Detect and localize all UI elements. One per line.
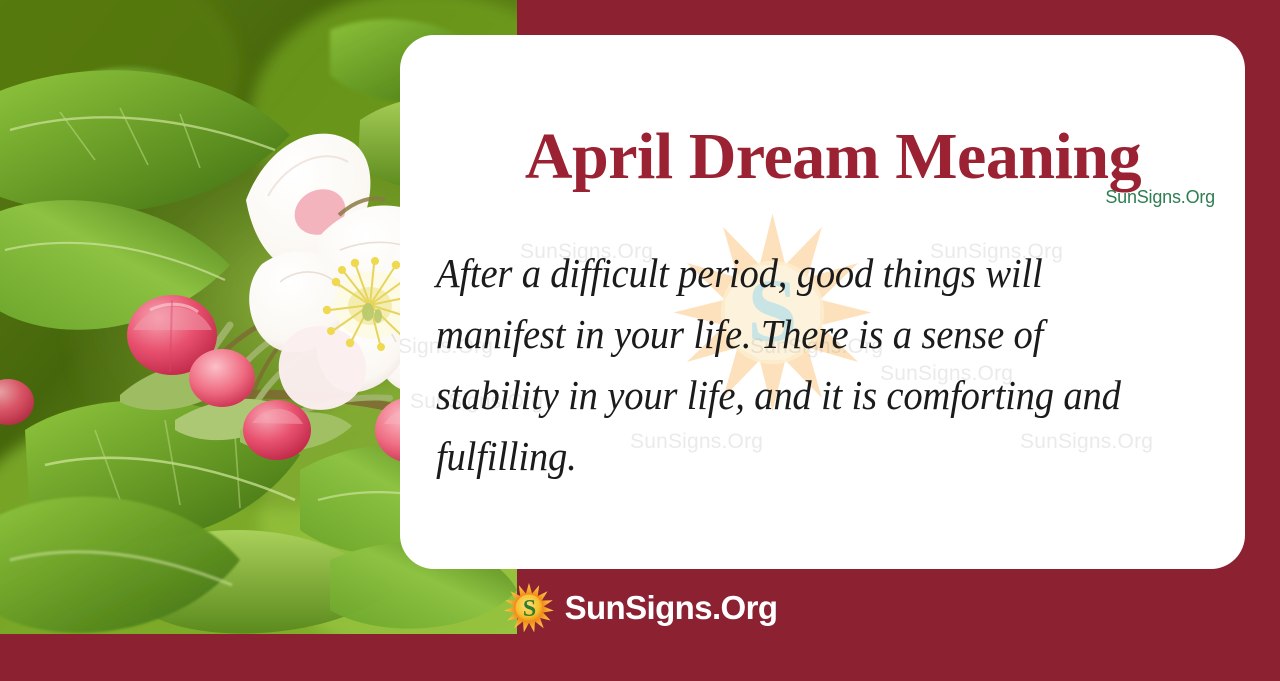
svg-text:S: S: [522, 596, 535, 622]
footer-brand-text: SunSigns.Org: [565, 589, 778, 627]
title-brand-overlay: SunSigns.Org: [1105, 187, 1215, 208]
dream-meaning-body: After a difficult period, good things wi…: [436, 243, 1171, 487]
content-card: S SunSigns.Org SunSigns.Org SunSigns.Org…: [400, 35, 1245, 569]
poster-canvas: S SunSigns.Org SunSigns.Org SunSigns.Org…: [0, 0, 1280, 681]
page-title: April Dream Meaning: [448, 123, 1218, 190]
footer-logo[interactable]: S SunSigns.Org: [0, 582, 1280, 634]
sun-logo-icon: S: [503, 582, 555, 634]
